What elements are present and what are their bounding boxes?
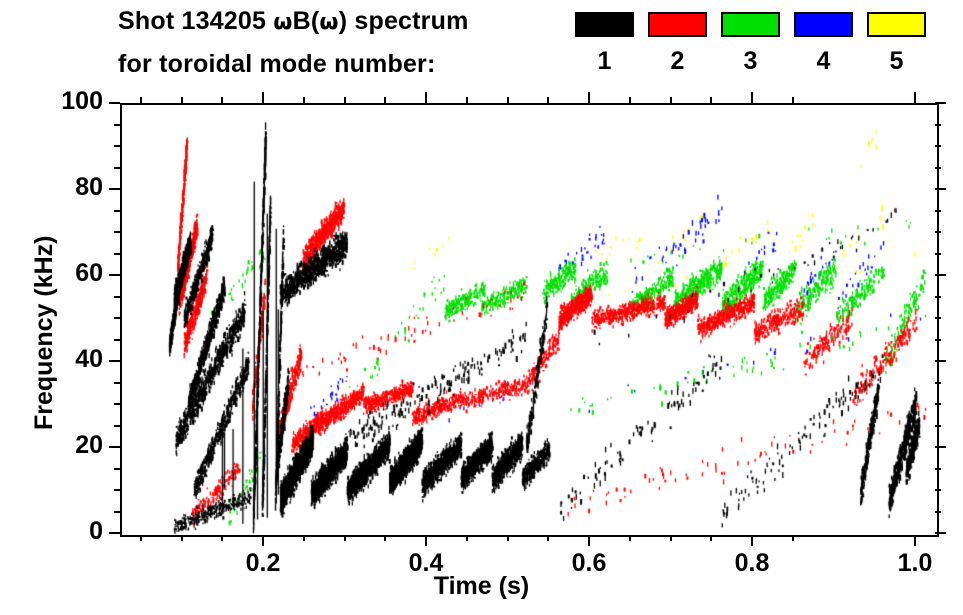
legend-label-mode-4: 4 <box>794 47 853 75</box>
x-minor-tick <box>344 535 346 541</box>
x-minor-tick <box>547 535 549 541</box>
x-minor-tick <box>710 535 712 541</box>
y-minor-tick <box>114 425 120 427</box>
x-major-tick <box>588 535 590 546</box>
x-minor-tick-top <box>221 97 223 103</box>
y-minor-tick-right <box>935 253 941 255</box>
y-minor-tick-right <box>935 489 941 491</box>
y-major-tick <box>109 532 120 534</box>
legend-item-mode-1: 1 <box>575 12 635 37</box>
x-minor-tick <box>507 535 509 541</box>
x-minor-tick <box>792 535 794 541</box>
y-major-tick-right <box>935 360 946 362</box>
legend-label-mode-3: 3 <box>721 47 780 75</box>
x-minor-tick-top <box>710 97 712 103</box>
legend-label-mode-1: 1 <box>575 47 634 75</box>
y-minor-tick-right <box>935 511 941 513</box>
x-major-tick-top <box>425 92 427 103</box>
title-shot-text: Shot 134205 <box>118 7 273 35</box>
omega-symbol-2: ω <box>319 10 338 35</box>
y-minor-tick-right <box>935 167 941 169</box>
y-minor-tick <box>114 231 120 233</box>
legend-swatch-mode-4 <box>794 12 853 37</box>
y-minor-tick-right <box>935 403 941 405</box>
y-minor-tick <box>114 489 120 491</box>
y-minor-tick-right <box>935 468 941 470</box>
y-minor-tick-right <box>935 231 941 233</box>
x-minor-tick-top <box>344 97 346 103</box>
x-minor-tick <box>629 535 631 541</box>
y-minor-tick-right <box>935 317 941 319</box>
y-tick-label: 100 <box>25 87 103 116</box>
y-minor-tick <box>114 210 120 212</box>
omega-symbol-1: ω <box>273 10 292 35</box>
y-minor-tick <box>114 253 120 255</box>
x-minor-tick-top <box>507 97 509 103</box>
x-minor-tick <box>384 535 386 541</box>
x-axis-title: Time (s) <box>0 572 963 601</box>
y-minor-tick-right <box>935 339 941 341</box>
y-minor-tick-right <box>935 145 941 147</box>
x-minor-tick <box>466 535 468 541</box>
legend-label-mode-2: 2 <box>648 47 707 75</box>
x-major-tick-top <box>588 92 590 103</box>
y-minor-tick <box>114 511 120 513</box>
legend-item-mode-3: 3 <box>721 12 781 37</box>
legend-swatch-mode-1 <box>575 12 634 37</box>
y-minor-tick <box>114 167 120 169</box>
y-tick-label: 0 <box>25 517 103 546</box>
y-minor-tick-right <box>935 124 941 126</box>
x-minor-tick <box>221 535 223 541</box>
spectrogram-figure: Shot 134205 ωB(ω) spectrum for toroidal … <box>0 0 963 615</box>
title-spectrum-text: ) spectrum <box>339 7 469 35</box>
x-minor-tick-top <box>547 97 549 103</box>
y-major-tick <box>109 188 120 190</box>
y-major-tick <box>109 360 120 362</box>
y-axis-title: Frequency (kHz) <box>30 236 59 430</box>
y-major-tick-right <box>935 102 946 104</box>
y-minor-tick <box>114 124 120 126</box>
legend-item-mode-2: 2 <box>648 12 708 37</box>
x-major-tick <box>425 535 427 546</box>
x-major-tick-top <box>751 92 753 103</box>
y-major-tick <box>109 446 120 448</box>
y-minor-tick <box>114 339 120 341</box>
x-minor-tick-top <box>466 97 468 103</box>
legend-label-mode-5: 5 <box>867 47 926 75</box>
y-major-tick-right <box>935 532 946 534</box>
y-minor-tick-right <box>935 296 941 298</box>
plot-frame <box>120 103 939 537</box>
legend-item-mode-4: 4 <box>794 12 854 37</box>
y-minor-tick <box>114 296 120 298</box>
figure-title-line-1: Shot 134205 ωB(ω) spectrum <box>118 7 469 36</box>
x-minor-tick-top <box>629 97 631 103</box>
y-minor-tick <box>114 468 120 470</box>
x-minor-tick-top <box>384 97 386 103</box>
legend-swatch-mode-5 <box>867 12 926 37</box>
x-minor-tick-top <box>670 97 672 103</box>
legend-swatch-mode-3 <box>721 12 780 37</box>
x-major-tick <box>751 535 753 546</box>
y-minor-tick-right <box>935 382 941 384</box>
x-minor-tick <box>303 535 305 541</box>
y-minor-tick-right <box>935 425 941 427</box>
spectrogram-canvas <box>122 105 937 535</box>
x-minor-tick-top <box>792 97 794 103</box>
y-tick-label: 80 <box>25 173 103 202</box>
mode-number-legend: 12345 <box>575 12 920 84</box>
x-minor-tick <box>140 535 142 541</box>
y-minor-tick <box>114 317 120 319</box>
y-tick-label: 20 <box>25 431 103 460</box>
x-major-tick <box>262 535 264 546</box>
y-major-tick-right <box>935 188 946 190</box>
x-minor-tick-top <box>181 97 183 103</box>
y-minor-tick <box>114 145 120 147</box>
y-major-tick-right <box>935 274 946 276</box>
x-minor-tick <box>670 535 672 541</box>
x-minor-tick-top <box>140 97 142 103</box>
x-minor-tick-top <box>303 97 305 103</box>
y-minor-tick <box>114 403 120 405</box>
legend-swatch-mode-2 <box>648 12 707 37</box>
y-minor-tick <box>114 382 120 384</box>
y-major-tick-right <box>935 446 946 448</box>
figure-title-line-2: for toroidal mode number: <box>118 50 436 79</box>
legend-item-mode-5: 5 <box>867 12 927 37</box>
y-minor-tick-right <box>935 210 941 212</box>
y-major-tick <box>109 274 120 276</box>
x-major-tick-top <box>914 92 916 103</box>
title-b-open: B( <box>293 7 320 35</box>
x-major-tick <box>914 535 916 546</box>
x-minor-tick <box>181 535 183 541</box>
x-major-tick-top <box>262 92 264 103</box>
y-major-tick <box>109 102 120 104</box>
